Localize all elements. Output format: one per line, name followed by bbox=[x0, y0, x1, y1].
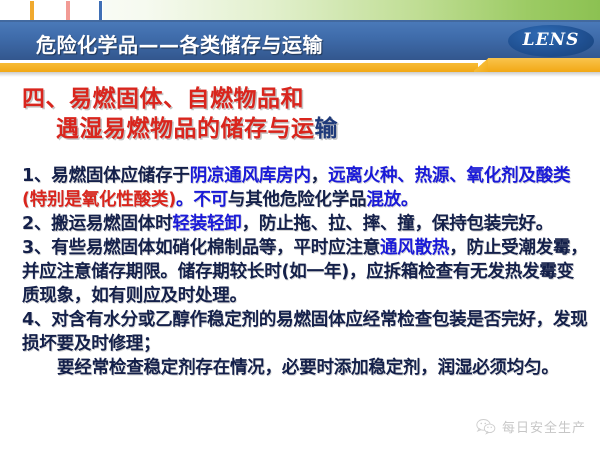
section-title-line1: 四、易燃固体、自燃物品和 bbox=[22, 86, 304, 112]
item-1-run-1: 阴凉通风库房内 bbox=[190, 166, 311, 186]
item-2-run-0: 2、搬运易燃固体时 bbox=[22, 214, 172, 234]
section-title-line2-main: 遇湿易燃物品的储存与运 bbox=[56, 116, 315, 142]
item-1-run-7: 与其他危险化学品 bbox=[228, 190, 366, 210]
item-5-run-0: 要经常检查稳定剂存在情况，必要时添加稳定剂，润湿必须均匀。 bbox=[57, 358, 559, 378]
item-1: 1、易燃固体应储存于阴凉通风库房内，远离火种、热源、氧化剂及酸类(特别是氧化性酸… bbox=[22, 164, 590, 212]
header-title: 危险化学品——各类储存与运输 bbox=[36, 29, 323, 58]
lens-logo-text: LENS bbox=[508, 30, 594, 50]
section-title-line2: 遇湿易燃物品的储存与运输 bbox=[22, 114, 582, 144]
lens-logo-badge: LENS bbox=[508, 25, 594, 57]
item-3-run-1: 通风散热 bbox=[380, 238, 449, 258]
item-2-run-1: 轻装轻卸 bbox=[172, 214, 241, 234]
item-4: 4、对含有水分或乙醇作稳定剂的易燃固体应经常检查包装是否完好，发现损坏要及时修理… bbox=[22, 308, 590, 356]
blue-tick bbox=[99, 1, 102, 21]
wechat-icon bbox=[476, 418, 496, 435]
item-1-run-6: 不可 bbox=[193, 190, 228, 210]
watermark-label: 每日安全生产 bbox=[502, 417, 586, 436]
item-3-run-0: 3、有些易燃固体如硝化棉制品等，平时应注意 bbox=[22, 238, 380, 258]
accent-band-shadow bbox=[0, 72, 600, 77]
content-body: 1、易燃固体应储存于阴凉通风库房内，远离火种、热源、氧化剂及酸类(特别是氧化性酸… bbox=[22, 164, 590, 380]
item-1-run-4: (特别是氧化性酸类) bbox=[22, 190, 176, 210]
wechat-watermark: 每日安全生产 bbox=[476, 417, 586, 436]
item-1-run-2: ， bbox=[311, 166, 328, 186]
section-title: 四、易燃固体、自燃物品和 遇湿易燃物品的储存与运输 bbox=[22, 84, 582, 144]
section-title-line2-tail: 输 bbox=[315, 116, 339, 142]
pink-tick bbox=[66, 1, 70, 21]
orange-tick bbox=[30, 1, 34, 21]
item-1-run-8: 混放。 bbox=[366, 190, 418, 210]
slide-root: 危险化学品——各类储存与运输 LENS 四、易燃固体、自燃物品和 遇湿易燃物品的… bbox=[0, 0, 600, 450]
item-1-run-5: 。 bbox=[176, 190, 193, 210]
item-2-run-2: ，防止拖、拉、摔、撞，保持包装完好。 bbox=[242, 214, 553, 234]
item-5: 要经常检查稳定剂存在情况，必要时添加稳定剂，润湿必须均匀。 bbox=[22, 356, 590, 380]
item-3: 3、有些易燃固体如硝化棉制品等，平时应注意通风散热，防止受潮发霉，并应注意储存期… bbox=[22, 236, 590, 308]
accent-band-high bbox=[488, 58, 600, 72]
item-4-run-0: 4、对含有水分或乙醇作稳定剂的易燃固体应经常检查包装是否完好，发现损坏要及时修理… bbox=[22, 310, 588, 354]
item-1-run-3: 远离火种、热源、氧化剂及酸类 bbox=[328, 166, 570, 186]
accent-band-low bbox=[0, 63, 478, 72]
top-strip-white-block bbox=[0, 0, 103, 22]
item-2: 2、搬运易燃固体时轻装轻卸，防止拖、拉、摔、撞，保持包装完好。 bbox=[22, 212, 590, 236]
item-1-run-0: 1、易燃固体应储存于 bbox=[22, 166, 190, 186]
